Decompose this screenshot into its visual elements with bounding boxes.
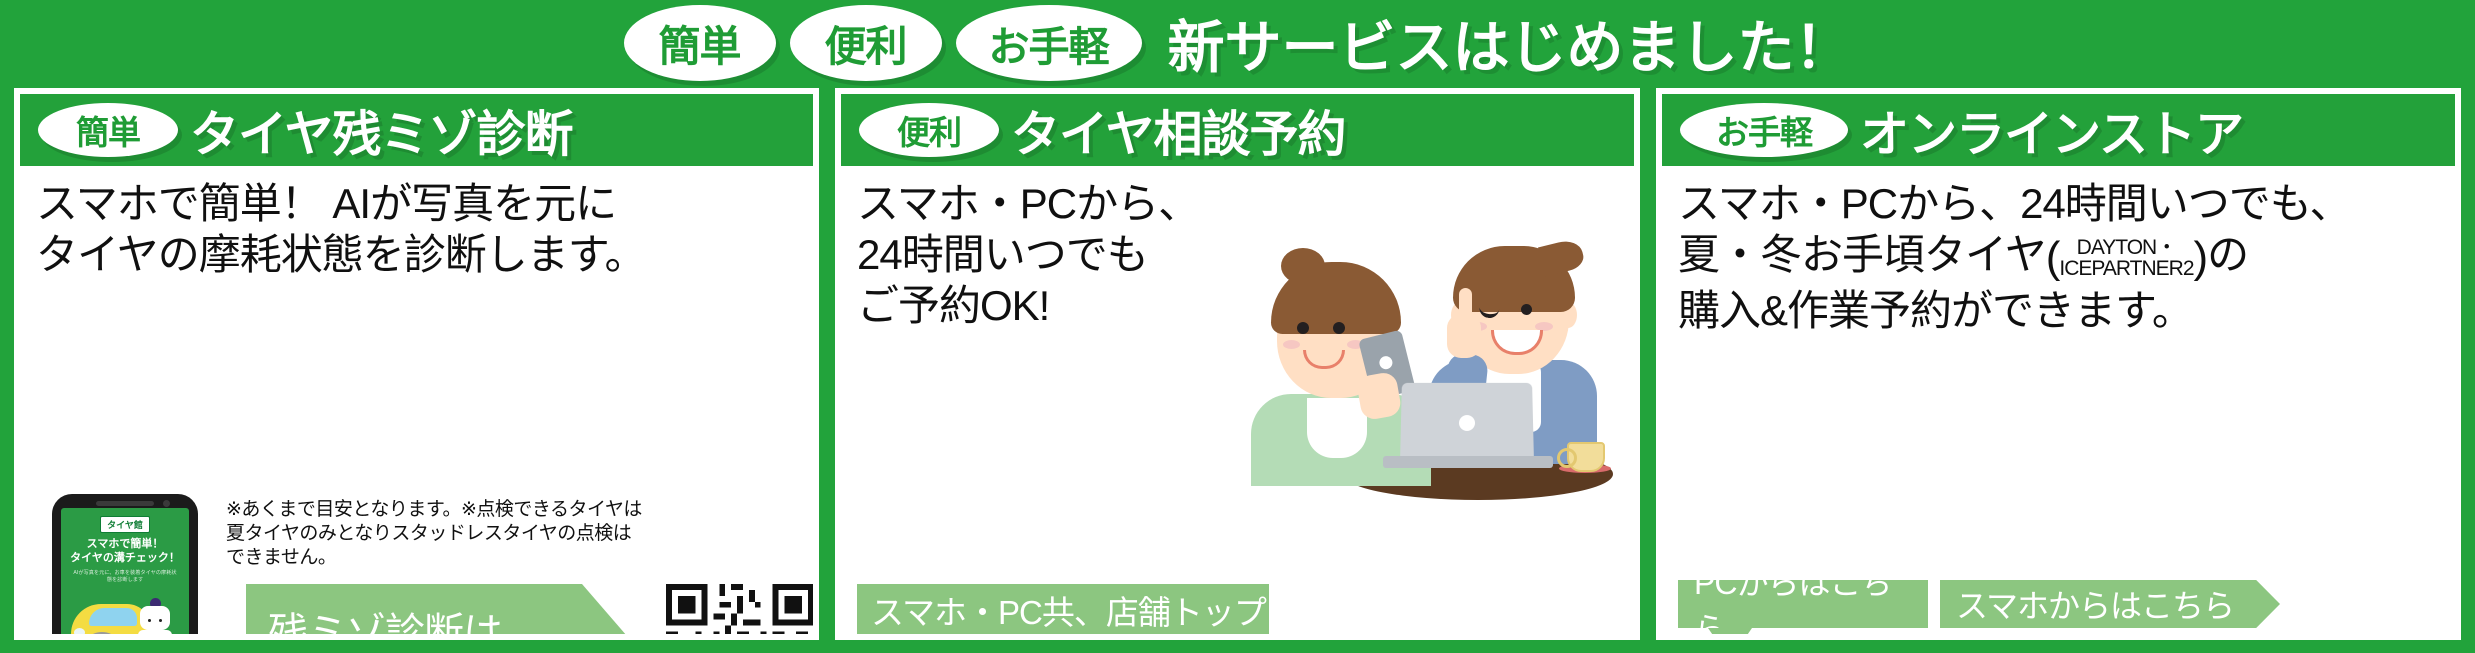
panel1-lead: スマホで簡単！ AIが写真を元に タイヤの摩耗状態を診断します。 [36,178,816,280]
car-headlight-icon [74,628,85,637]
people-illustration [1271,242,1640,522]
promo-banner: 簡単 便利 お手軽 新サービスはじめました！ 簡単 タイヤ残ミゾ診断 スマホで簡… [0,0,2475,653]
header-badge-benri: 便利 [790,5,942,81]
qr-code-panel1[interactable] [666,584,814,640]
panel3-lead-line1: スマホ・PCから、24時間いつでも、 [1678,178,2458,229]
robot-eye-right-icon [159,619,162,622]
panel-tire-consultation-booking[interactable]: 便利 タイヤ相談予約 スマホ・PCから、 24時間いつでも ご予約OK! [835,88,1640,640]
woman-blush-left-icon [1283,340,1300,349]
panel3-lead-line2: 夏・冬お手頃タイヤ(DAYTON・ICEPARTNER2)の [1678,229,2458,285]
cup-handle-icon [1557,448,1577,468]
banner-headline: 新サービスはじめました！ [1168,2,1852,84]
panel3-tag-row: PCからはこちら スマホからはこちら [1678,580,2280,628]
panel3-header: お手軽 オンラインストア [1662,94,2455,166]
panel2-lead: スマホ・PCから、 24時間いつでも ご予約OK! [857,178,1287,332]
smartphone-link-tag[interactable]: スマホからはこちら [1940,580,2280,628]
brand-dayton: DAYTON・ [2077,236,2177,259]
panel3-lead-line2-b: の [2207,231,2248,278]
tireshop-logo: タイヤ館 [100,516,150,533]
woman-hair-bun-icon [1281,248,1325,284]
paren-open-icon: ( [2046,233,2060,282]
coffee-cup-icon [1567,442,1605,472]
panel3-badge: お手軽 [1680,103,1848,157]
brand-icepartner2: ICEPARTNER2 [2059,257,2193,280]
laptop-base-icon [1383,456,1553,468]
car-and-robot-illustration [65,588,185,640]
panel3-lead-line2-a: 夏・冬お手頃タイヤ [1678,231,2046,278]
robot-icon [135,598,175,640]
panel1-title: タイヤ残ミゾ診断 [190,95,573,166]
robot-body-icon [138,630,172,640]
laptop-icon [1400,383,1534,460]
panel-row: 簡単 タイヤ残ミゾ診断 スマホで簡単！ AIが写真を元に タイヤの摩耗状態を診断… [14,88,2461,640]
woman-eye-right-icon [1333,322,1345,334]
woman-inner-shirt-icon [1307,398,1367,458]
panel3-lead-line3: 購入&作業予約ができます。 [1678,285,2458,336]
panel2-title: タイヤ相談予約 [1011,95,1346,166]
phone-subtext: AIが写真を元に、お車を装着タイヤの摩耗状態を診断します [71,570,179,584]
panel-tire-groove-diagnosis[interactable]: 簡単 タイヤ残ミゾ診断 スマホで簡単！ AIが写真を元に タイヤの摩耗状態を診断… [14,88,819,640]
man-hair-tuft-icon [1538,237,1586,276]
panel2-badge: 便利 [859,103,999,157]
car-window-icon [89,608,137,626]
robot-head-icon [140,606,170,630]
smartphone-link-label: スマホからはこちら [1956,581,2234,627]
robot-eye-left-icon [148,619,151,622]
paren-close-icon: ) [2194,233,2208,282]
tag-pointer-icon [1708,628,1752,640]
panel1-fineprint: ※あくまで目安となります。※点検できるタイヤは夏タイヤのみとなりスタッドレスタイ… [226,498,646,569]
panel1-header: 簡単 タイヤ残ミゾ診断 [20,94,813,166]
header-badge-kantan: 簡単 [624,5,776,81]
panel1-badge: 簡単 [38,103,178,157]
panel2-green-note: スマホ・PC共、店舗トップ ページより予約ページへ お進みください。 [857,584,1269,640]
panel3-title: オンラインストア [1860,95,2243,166]
robot-screen-icon [143,634,167,640]
phone-camera-icon [163,500,170,507]
panel2-header: 便利 タイヤ相談予約 [841,94,1634,166]
smartphone-mockup: タイヤ館 スマホで簡単！ タイヤの溝チェック！ AIが写真を元に、お車を装着タイ… [52,494,198,640]
phone-screen: タイヤ館 スマホで簡単！ タイヤの溝チェック！ AIが写真を元に、お車を装着タイ… [61,508,189,640]
zan-mizo-cta-arrow-button[interactable]: 残ミゾ診断は こちらから [246,584,646,640]
pc-link-tag[interactable]: PCからはこちら [1678,580,1928,628]
man-eye-icon [1521,304,1532,315]
phone-heading: スマホで簡単！ タイヤの溝チェック！ [70,538,180,566]
panel3-lead: スマホ・PCから、24時間いつでも、 夏・冬お手頃タイヤ(DAYTON・ICEP… [1678,178,2458,336]
panel-online-store[interactable]: お手軽 オンラインストア スマホ・PCから、24時間いつでも、 夏・冬お手頃タイ… [1656,88,2461,640]
panel3-brand-names: DAYTON・ICEPARTNER2 [2059,237,2193,280]
phone-speaker-icon [96,501,154,506]
header-badge-otegaru: お手軽 [956,5,1142,81]
qr-code-icon [666,584,814,640]
banner-header: 簡単 便利 お手軽 新サービスはじめました！ [0,0,2475,86]
woman-eye-left-icon [1297,322,1309,334]
